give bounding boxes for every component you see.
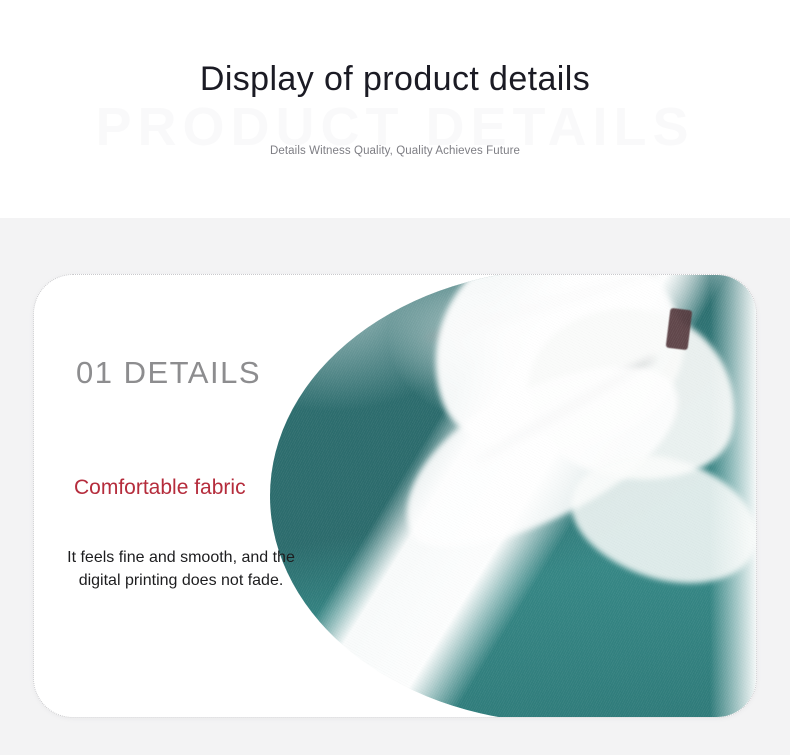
page-title: Display of product details: [0, 60, 790, 99]
detail-heading: Comfortable fabric: [74, 475, 264, 502]
detail-index-label: 01 DETAILS: [76, 355, 261, 391]
fabric-knit-texture: [270, 275, 756, 717]
product-details-page: PRODUCT DETAILS Display of product detai…: [0, 0, 790, 755]
fabric-photo-container: [270, 275, 756, 717]
detail-body-text: It feels fine and smooth, and the digita…: [66, 547, 296, 592]
page-subtitle: Details Witness Quality, Quality Achieve…: [0, 145, 790, 157]
header-banner: PRODUCT DETAILS Display of product detai…: [0, 0, 790, 218]
fabric-photo-mask: [270, 275, 756, 717]
detail-card-text-block: 01 DETAILS Comfortable fabric It feels f…: [34, 275, 304, 717]
detail-card-01: 01 DETAILS Comfortable fabric It feels f…: [33, 274, 757, 718]
